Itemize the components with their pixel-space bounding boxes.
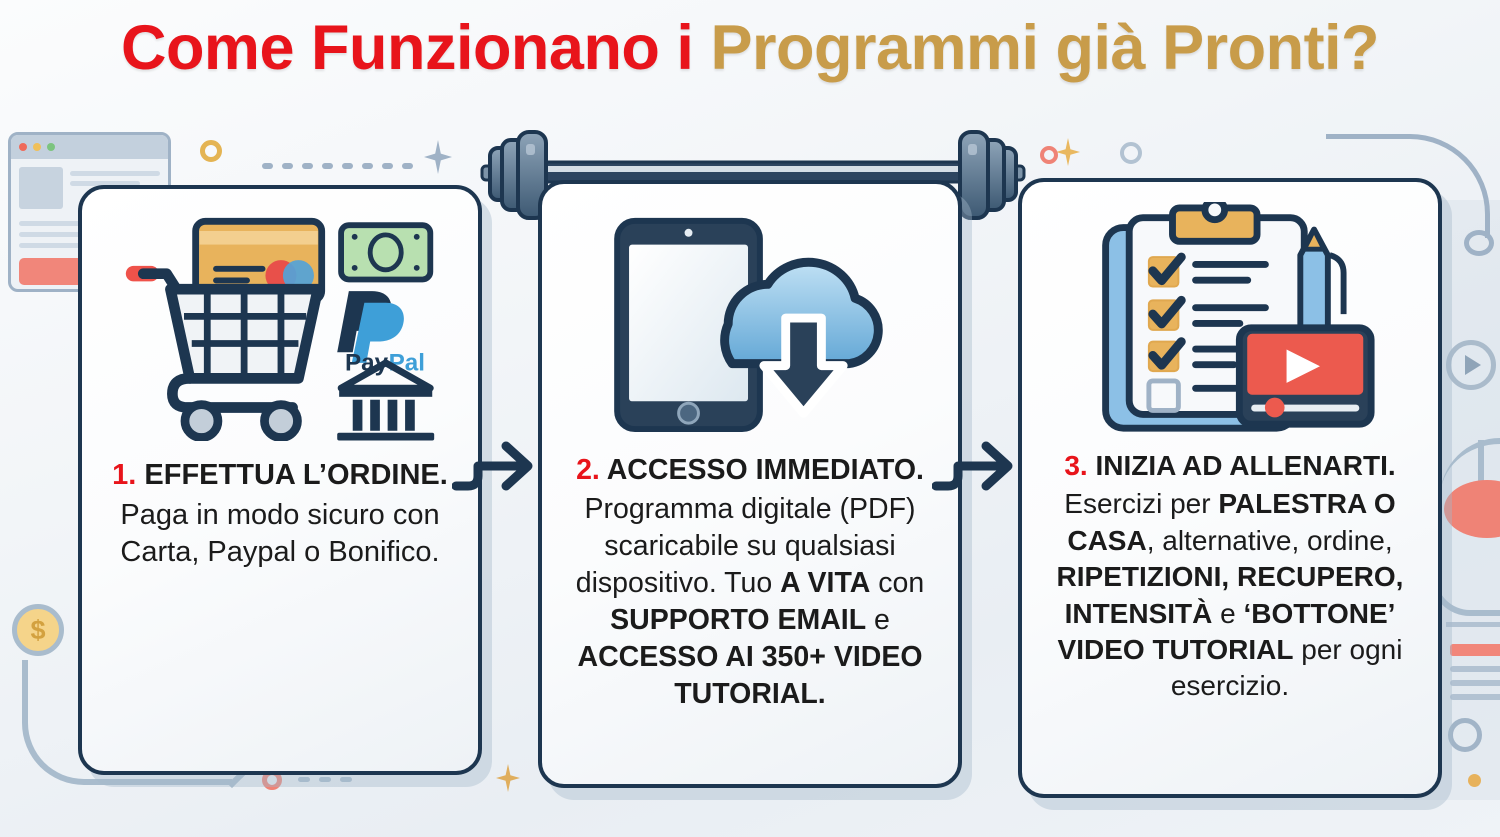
browser-titlebar — [11, 135, 168, 159]
coin-dollar-icon: $ — [12, 604, 64, 656]
run-bold: A VITA — [780, 567, 870, 599]
step-card-3[interactable]: 3. INIZIA AD ALLENARTI. Esercizi per PAL… — [1018, 178, 1442, 798]
traffic-light-red-icon — [19, 143, 27, 151]
step-card-3-body: Esercizi per PALESTRA O CASA, alternativ… — [1057, 488, 1404, 701]
traffic-light-green-icon — [47, 143, 55, 151]
arrow-step2-to-step3 — [932, 428, 1028, 498]
right-ring-decor — [1448, 718, 1482, 752]
right-arc-decor — [1440, 438, 1500, 498]
run: e — [866, 604, 890, 636]
right-stem-decor — [1478, 440, 1484, 492]
traffic-light-yellow-icon — [33, 143, 41, 151]
step-card-1[interactable]: Pay Pal — [78, 185, 482, 775]
coral-ring-top-decor — [1040, 146, 1058, 164]
step-heading-label-3: INIZIA AD ALLENARTI. — [1095, 450, 1395, 481]
step-card-2-body: Programma digitale (PDF) scaricabile su … — [576, 493, 924, 710]
placeholder-image-block — [19, 167, 63, 209]
tablet-cloud-download-illustration — [542, 202, 958, 442]
step-card-2-text: 2. ACCESSO IMMEDIATO. Programma digitale… — [556, 452, 944, 713]
step-number-1: 1. — [112, 459, 136, 491]
right-divider — [1446, 622, 1500, 627]
right-node-circle — [1464, 230, 1494, 256]
step-number-3: 3. — [1064, 450, 1087, 481]
gold-ring-decor — [200, 140, 222, 162]
sparkle-gold-bottom-icon — [496, 764, 520, 792]
banknote-icon — [341, 225, 430, 279]
coral-ellipse-decor — [1444, 480, 1500, 538]
placeholder-line — [70, 171, 160, 176]
gray-circle-decor — [1120, 142, 1142, 164]
gold-dot-decor — [1468, 774, 1481, 787]
arrow-step1-to-step2 — [452, 428, 548, 498]
step-card-3-heading: 3. INIZIA AD ALLENARTI. — [1036, 448, 1424, 484]
right-coral-bar — [1450, 644, 1500, 656]
step-card-2[interactable]: 2. ACCESSO IMMEDIATO. Programma digitale… — [538, 180, 962, 788]
play-circle-icon — [1446, 340, 1496, 390]
step-card-2-heading: 2. ACCESSO IMMEDIATO. — [556, 452, 944, 489]
run-bold: SUPPORTO EMAIL — [610, 604, 866, 636]
step-heading-label-2: ACCESSO IMMEDIATO. — [607, 454, 924, 486]
video-player-icon — [1239, 328, 1371, 424]
run-bold: ACCESSO AI 350+ VIDEO TUTORIAL. — [577, 641, 922, 710]
sparkle-blue-icon — [424, 140, 452, 174]
page-title-part2: Programmi già Pronti? — [710, 13, 1379, 83]
right-text-lines — [1450, 666, 1500, 700]
step-heading-label-1: EFFETTUA L’ORDINE. — [144, 459, 447, 491]
shopping-cart-icon — [126, 266, 318, 438]
dashes-bottom-decor — [298, 777, 352, 782]
pencil-icon — [1300, 230, 1343, 336]
run: e — [1212, 598, 1243, 629]
step-card-1-heading: 1. EFFETTUA L’ORDINE. — [96, 457, 464, 495]
step-number-2: 2. — [576, 454, 600, 486]
sparkle-gold-icon — [1056, 138, 1080, 166]
dashes-top-decor — [262, 163, 413, 169]
run: , alternative, ordine, — [1147, 525, 1393, 556]
infographic-canvas: $ Come Funzionano i Programmi già Pronti… — [0, 0, 1500, 837]
run: Esercizi per — [1064, 488, 1218, 519]
run: con — [870, 567, 924, 599]
step-card-1-text: 1. EFFETTUA L’ORDINE. Paga in modo sicur… — [96, 457, 464, 572]
page-title-part1: Come Funzionano i — [121, 13, 710, 83]
step-card-3-text: 3. INIZIA AD ALLENARTI. Esercizi per PAL… — [1036, 448, 1424, 705]
shopping-cart-payments-illustration: Pay Pal — [82, 207, 478, 447]
clipboard-checklist-video-illustration — [1022, 200, 1438, 440]
step-card-1-body: Paga in modo sicuro con Carta, Paypal o … — [120, 499, 439, 569]
page-title: Come Funzionano i Programmi già Pronti? — [0, 12, 1500, 84]
